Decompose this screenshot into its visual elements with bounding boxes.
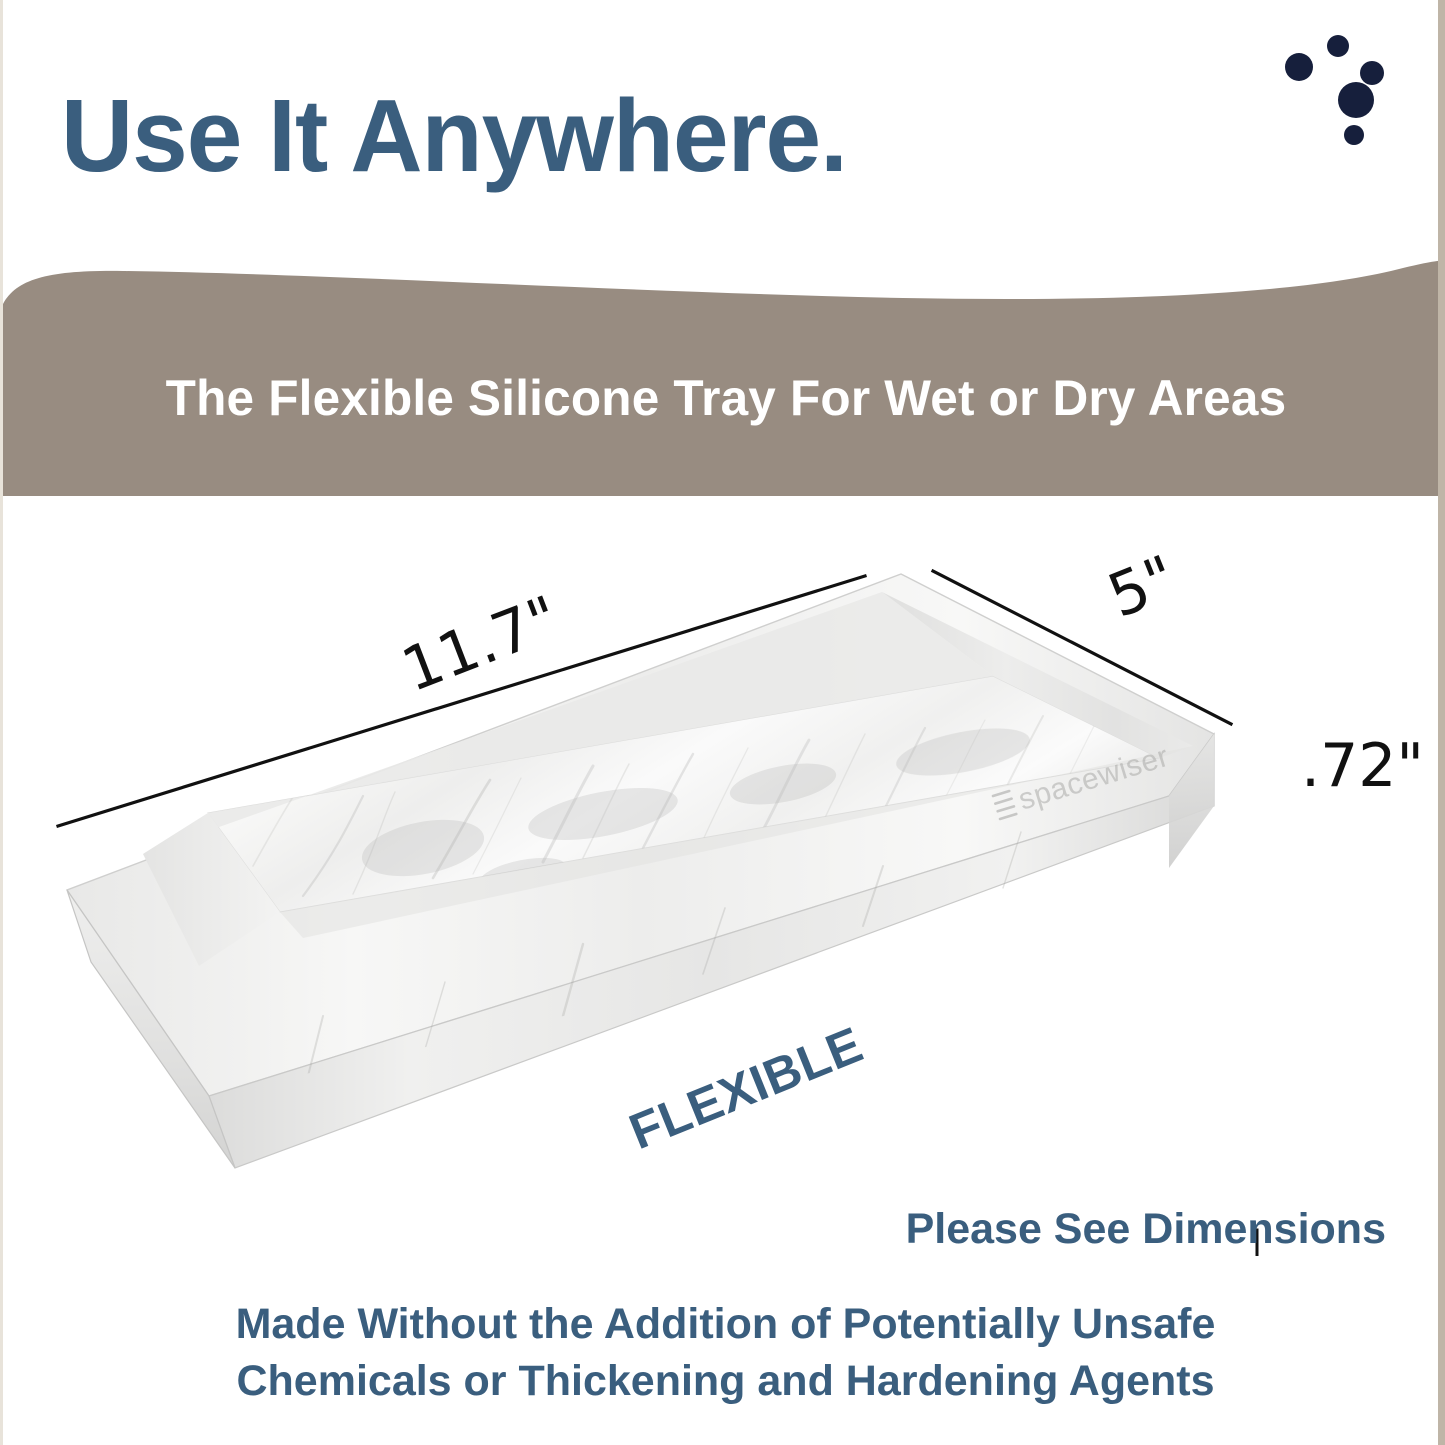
decoration-dot-2 — [1285, 53, 1313, 81]
safety-claim-line-1: Made Without the Addition of Potentially… — [3, 1296, 1445, 1353]
tray-drawing: spacewiser — [3, 496, 1445, 1256]
decoration-dot-5 — [1344, 125, 1364, 145]
safety-claim-line-2: Chemicals or Thickening and Hardening Ag… — [3, 1353, 1445, 1410]
product-infographic: Use It Anywhere. The Flexible Silicone T… — [0, 0, 1445, 1445]
banner-text-wrap: The Flexible Silicone Tray For Wet or Dr… — [3, 258, 1445, 496]
dimension-label-height: .72" — [1301, 731, 1424, 801]
safety-claim: Made Without the Addition of Potentially… — [3, 1296, 1445, 1410]
decoration-dot-3 — [1360, 61, 1384, 85]
decoration-dot-1 — [1327, 35, 1349, 57]
scatter-dots-decoration — [1283, 20, 1445, 190]
decoration-dot-4 — [1338, 82, 1374, 118]
banner-subtitle: The Flexible Silicone Tray For Wet or Dr… — [165, 369, 1286, 427]
subtitle-banner: The Flexible Silicone Tray For Wet or Dr… — [3, 258, 1445, 496]
see-dimensions-text: Please See Dimensions — [906, 1205, 1386, 1254]
page-title: Use It Anywhere. — [61, 82, 1128, 190]
product-illustration: spacewiser — [3, 496, 1445, 1256]
